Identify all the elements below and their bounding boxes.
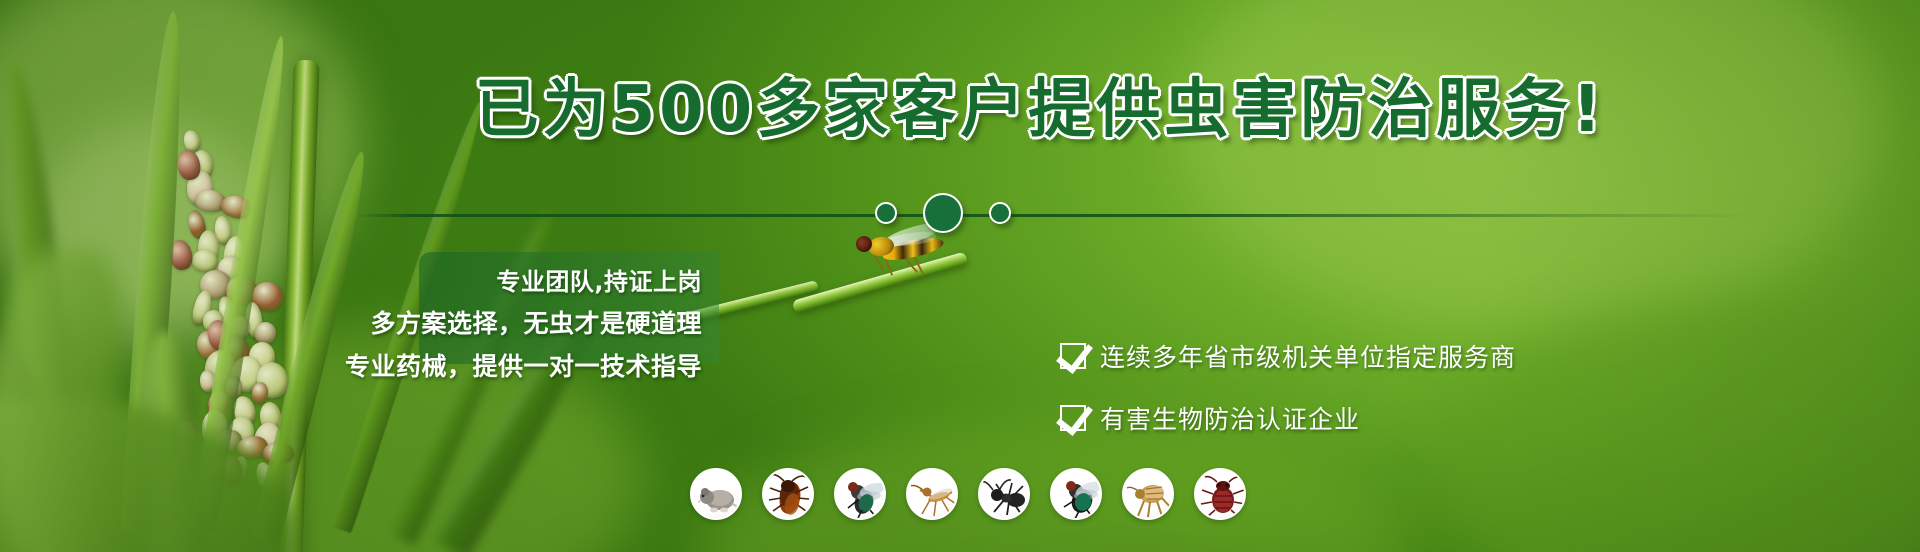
flea-icon[interactable] bbox=[1122, 468, 1174, 520]
hoverfly-head bbox=[856, 236, 872, 252]
decorative-dot-group bbox=[875, 193, 1011, 233]
pest-icon-strip bbox=[690, 468, 1246, 520]
feature-bullet-item: 有害生物防治认证企业 bbox=[1060, 400, 1516, 436]
ant-icon[interactable] bbox=[978, 468, 1030, 520]
feature-bullet-label: 有害生物防治认证企业 bbox=[1100, 400, 1360, 436]
panel-line-2: 多方案选择，无虫才是硬道理 bbox=[340, 302, 702, 346]
feature-bullet-label: 连续多年省市级机关单位指定服务商 bbox=[1100, 338, 1516, 374]
decorative-dot-small bbox=[875, 202, 897, 224]
divider-rule bbox=[357, 214, 1757, 217]
bedbug-icon[interactable] bbox=[1194, 468, 1246, 520]
feature-bullet-item: 连续多年省市级机关单位指定服务商 bbox=[1060, 338, 1516, 374]
blowfly-icon[interactable] bbox=[1050, 468, 1102, 520]
pest-control-hero-banner: 已为500多家客户提供虫害防治服务! 专业团队,持证上岗 多方案选择，无虫才是硬… bbox=[0, 0, 1920, 552]
hoverfly-eye bbox=[858, 239, 869, 250]
highlight-panel-text: 专业团队,持证上岗 多方案选择，无虫才是硬道理 专业药械，提供一对一技术指导 bbox=[340, 262, 720, 388]
mosquito-icon[interactable] bbox=[906, 468, 958, 520]
housefly-icon[interactable] bbox=[834, 468, 886, 520]
decorative-dot-small bbox=[989, 202, 1011, 224]
panel-line-1: 专业团队,持证上岗 bbox=[340, 262, 702, 302]
panel-line-3: 专业药械，提供一对一技术指导 bbox=[340, 346, 702, 388]
decorative-dot-large bbox=[923, 193, 963, 233]
hoverfly-icon bbox=[852, 226, 962, 278]
checkbox-checked-icon bbox=[1060, 405, 1086, 431]
checkbox-checked-icon bbox=[1060, 343, 1086, 369]
cockroach-icon[interactable] bbox=[762, 468, 814, 520]
twig-with-insect bbox=[790, 236, 980, 306]
rodent-icon[interactable] bbox=[690, 468, 742, 520]
banner-headline: 已为500多家客户提供虫害防治服务! bbox=[0, 78, 1920, 142]
feature-bullet-list: 连续多年省市级机关单位指定服务商 有害生物防治认证企业 bbox=[1060, 338, 1516, 462]
